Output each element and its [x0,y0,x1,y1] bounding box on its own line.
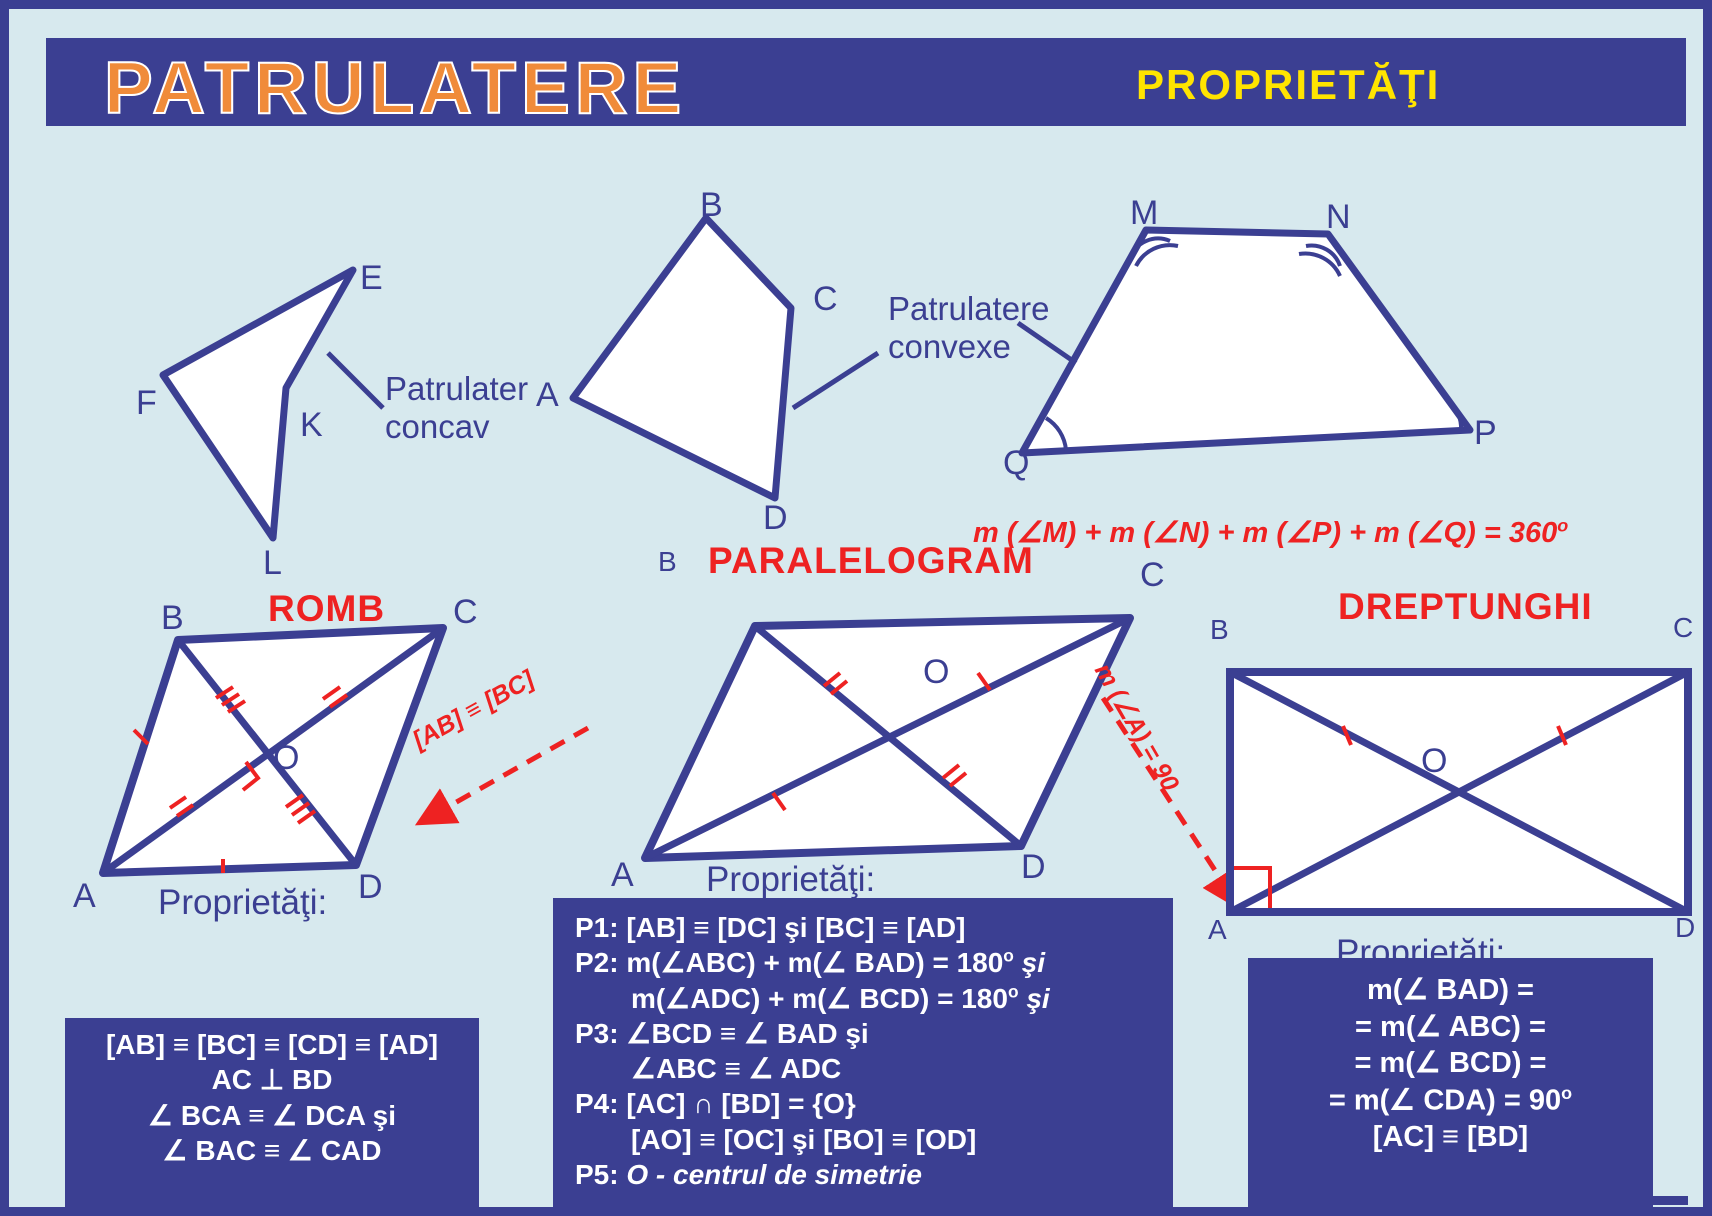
footer-bar [1308,1196,1688,1205]
drept-prop-3: = m(∠ BCD) = [1248,1045,1653,1082]
para-prop-row-4: P3: ∠BCD ≡ ∠ BAD şi [575,1016,1173,1051]
page-title: PATRULATERE [104,52,686,125]
formula-angle-sum: m (∠M) + m (∠N) + m (∠P) + m (∠Q) = 360o [973,515,1568,550]
dreptunghi-tick-marks [1343,726,1566,745]
figure-dreptunghi [1230,672,1688,912]
vertex-label-M: M [1130,196,1158,230]
para-prop-text-5: ∠ABC ≡ ∠ ADC [631,1053,841,1084]
romb-center-O: O [273,741,299,775]
header-bar: PATRULATERE PROPRIETĂŢI [46,38,1686,126]
para-prop-text-4: ∠BCD ≡ ∠ BAD şi [626,1018,868,1049]
para-vertex-A: A [611,858,634,892]
drept-prop-4-degree: o [1561,1083,1572,1103]
para-prop-text-7: [AO] ≡ [OC] şi [BO] ≡ [OD] [631,1124,976,1155]
drept-prop-5: [AC] ≡ [BD] [1248,1119,1653,1156]
drept-prop-4-row: = m(∠ CDA) = 90o [1248,1082,1653,1119]
para-prop-row-3: m(∠ADC) + m(∠ BCD) = 180o şi [575,981,1173,1016]
figure-romb [103,628,588,873]
romb-vertex-D: D [358,870,383,904]
para-prop-tag-8: P5: [575,1159,619,1190]
formula-angle-sum-degree: o [1557,515,1568,535]
drept-center-O: O [1421,744,1447,778]
romb-prop-3: ∠ BCA ≡ ∠ DCA şi [65,1098,479,1133]
romb-prop-1: [AB] ≡ [BC] ≡ [CD] ≡ [AD] [65,1027,479,1062]
romb-prop-4: ∠ BAC ≡ ∠ CAD [65,1133,479,1168]
para-vertex-D: D [1021,850,1046,884]
para-prop-suffix-2: şi [1014,947,1045,978]
romb-callout: [AB] ≡ [BC] [408,665,539,755]
romb-props-heading: Proprietăţi: [158,883,327,923]
para-prop-tag-4: P3: [575,1018,619,1049]
para-prop-tag-1: P1: [575,912,619,943]
shape-title-romb: ROMB [268,588,385,630]
vertex-label-convex-A: A [536,378,559,412]
caption-concave-line1: Patrulater [385,370,528,408]
para-prop-row-8: P5: O - centrul de simetrie [575,1157,1173,1192]
caption-convex-line2: convexe [888,328,1049,366]
drept-prop-1: m(∠ BAD) = [1248,972,1653,1009]
vertex-label-convex-C: C [813,282,838,316]
para-prop-tag-6: P4: [575,1088,619,1119]
para-vertex-C: C [1140,558,1165,592]
vertex-label-convex-D: D [763,501,788,535]
vertex-label-F: F [136,386,157,420]
romb-prop-2: AC ⊥ BD [65,1062,479,1097]
figure-convex-abcd [573,218,878,498]
para-prop-sup-2: o [1003,946,1014,966]
para-prop-text-8: O - centrul de simetrie [626,1159,922,1190]
para-prop-sup-3: o [1008,981,1019,1001]
para-props-heading: Proprietăţi: [706,860,875,900]
para-prop-row-5: ∠ABC ≡ ∠ ADC [575,1051,1173,1086]
vertex-label-N: N [1326,200,1351,234]
caption-concave-line2: concav [385,408,528,446]
para-prop-row-6: P4: [AC] ∩ [BD] = {O} [575,1086,1173,1121]
caption-convex-line1: Patrulatere [888,290,1049,328]
para-prop-text-3: m(∠ADC) + m(∠ BCD) = 180 [631,983,1008,1014]
vertex-label-Q: Q [1003,446,1029,480]
caption-concave: Patrulater concav [385,370,528,447]
paralelogram-properties-box: P1: [AB] ≡ [DC] şi [BC] ≡ [AD] P2: m(∠AB… [553,898,1173,1208]
vertex-label-K: K [300,408,323,442]
para-prop-text-1: [AB] ≡ [DC] şi [BC] ≡ [AD] [626,912,965,943]
romb-properties-box: [AB] ≡ [BC] ≡ [CD] ≡ [AD] AC ⊥ BD ∠ BCA … [65,1018,479,1208]
para-prop-suffix-3: şi [1019,983,1050,1014]
figure-concave-quadrilateral [163,270,383,538]
formula-angle-sum-text: m (∠M) + m (∠N) + m (∠P) + m (∠Q) = 360 [973,517,1557,549]
para-prop-tag-2: P2: [575,947,619,978]
poster-root: PATRULATERE PROPRIETĂŢI [0,0,1712,1216]
romb-vertex-C: C [453,595,478,629]
vertex-label-convex-B: B [700,188,723,222]
romb-vertex-B: B [161,601,184,635]
para-prop-row-7: [AO] ≡ [OC] şi [BO] ≡ [OD] [575,1122,1173,1157]
para-prop-row-2: P2: m(∠ABC) + m(∠ BAD) = 180o şi [575,945,1173,980]
drept-prop-2: = m(∠ ABC) = [1248,1009,1653,1046]
paralelogram-tick-marks [773,673,990,810]
dreptunghi-properties-box: m(∠ BAD) = = m(∠ ABC) = = m(∠ BCD) = = m… [1248,958,1653,1208]
shape-title-paralelogram: PARALELOGRAM [708,540,1034,582]
romb-vertex-A: A [73,879,96,913]
vertex-label-L: L [263,546,282,580]
drept-vertex-D: D [1675,914,1695,942]
drept-vertex-B: B [1210,616,1229,644]
footer-credit: Executat: ROTAREXIM SA Tel.fax: 0250/730… [1316,1206,1712,1216]
drept-vertex-C: C [1673,614,1693,642]
vertex-label-P: P [1474,416,1497,450]
caption-convex: Patrulatere convexe [888,290,1049,367]
vertex-label-E: E [360,261,383,295]
para-prop-text-2: m(∠ABC) + m(∠ BAD) = 180 [626,947,1003,978]
page-subtitle: PROPRIETĂŢI [1136,64,1440,106]
romb-tick-marks [134,687,347,873]
para-vertex-B: B [658,548,677,576]
para-center-O: O [923,655,949,689]
shape-title-dreptunghi: DREPTUNGHI [1338,586,1593,628]
poster-inner: PATRULATERE PROPRIETĂŢI [18,18,1712,1216]
drept-prop-4: = m(∠ CDA) = 90 [1329,1084,1561,1116]
para-prop-row-1: P1: [AB] ≡ [DC] şi [BC] ≡ [AD] [575,910,1173,945]
dreptunghi-callout: m (∠A) = 90 [1088,658,1185,796]
para-prop-text-6: [AC] ∩ [BD] = {O} [626,1088,855,1119]
drept-vertex-A: A [1208,916,1227,944]
figure-convex-mnpq [1018,230,1470,453]
